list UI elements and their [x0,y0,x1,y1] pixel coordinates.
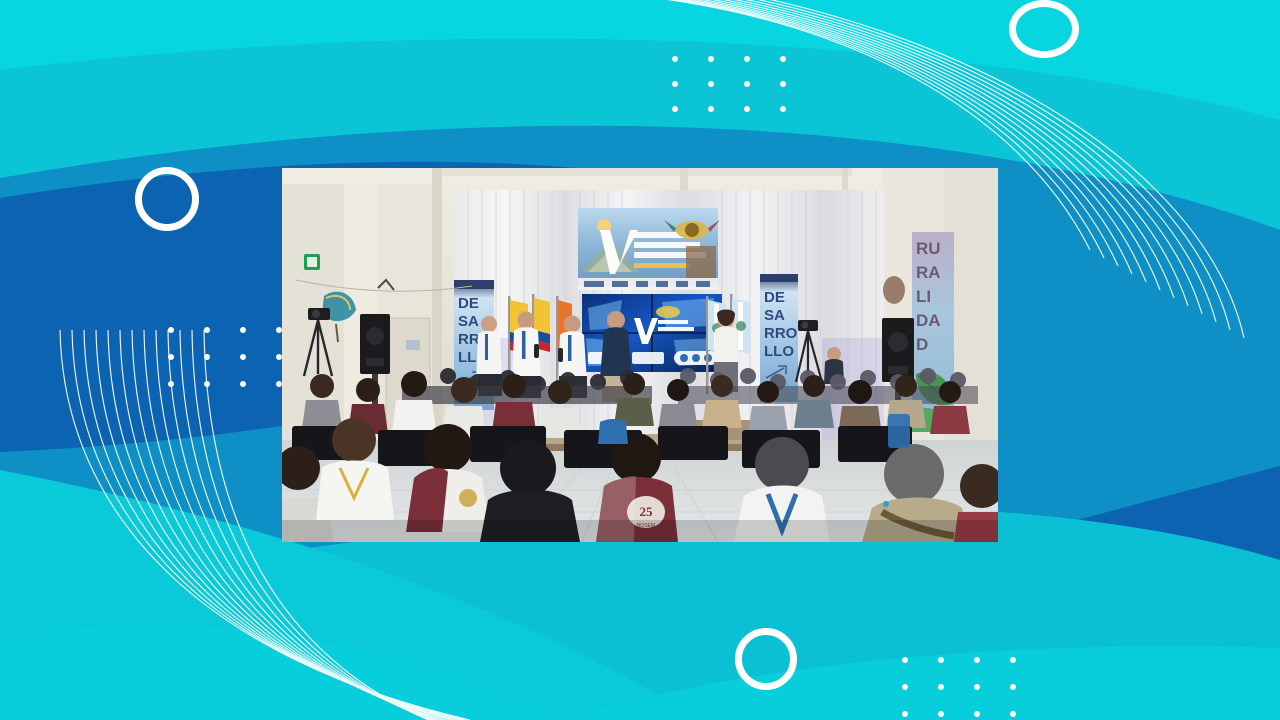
svg-text:D: D [916,335,928,354]
grid-dot [744,56,750,62]
grid-dot [938,657,944,663]
dot-grid-top [672,56,816,131]
grid-dot [204,327,210,333]
svg-text:SA: SA [458,313,479,330]
event-photo: DE SA RRO LLO DE SA RRO LLO [282,168,998,542]
grid-dot [708,81,714,87]
grid-dot [780,81,786,87]
svg-text:DA: DA [916,311,941,330]
grid-dot [240,381,246,387]
grid-dot [672,56,678,62]
svg-text:LLO: LLO [764,343,794,360]
grid-dot [672,106,678,112]
grid-dot [240,354,246,360]
grid-dot [1010,657,1016,663]
grid-dot [168,381,174,387]
grid-dot [974,711,980,717]
grid-dot [204,354,210,360]
svg-text:RU: RU [916,239,941,258]
grid-dot [902,711,908,717]
grid-dot [744,81,750,87]
grid-dot [902,684,908,690]
grid-dot [974,684,980,690]
svg-text:LI: LI [916,287,931,306]
grid-dot [708,56,714,62]
blue-bag [598,419,628,444]
svg-text:DE: DE [764,289,785,306]
grid-dot [168,327,174,333]
stage-banner [578,208,720,290]
grid-dot [938,684,944,690]
grid-dot [780,56,786,62]
decorative-ring-top-right [1009,0,1079,58]
grid-dot [744,106,750,112]
grid-dot [240,327,246,333]
svg-text:SA: SA [764,307,785,324]
grid-dot [204,381,210,387]
grid-dot [1010,711,1016,717]
grid-dot [1010,684,1016,690]
dot-grid-bottom-right [902,657,1046,720]
grid-dot [938,711,944,717]
grid-dot [780,106,786,112]
svg-text:25: 25 [640,504,654,519]
svg-text:RA: RA [916,263,941,282]
wall-portrait [883,276,905,304]
svg-text:DE: DE [458,295,479,312]
grid-dot [672,81,678,87]
grid-dot [708,106,714,112]
grid-dot [902,657,908,663]
photo-scene: DE SA RRO LLO DE SA RRO LLO [282,168,998,542]
slide-canvas: DE SA RRO LLO DE SA RRO LLO [0,0,1280,720]
blue-case [888,414,910,448]
grid-dot [974,657,980,663]
svg-text:RRO: RRO [764,325,798,342]
grid-dot [168,354,174,360]
decorative-ring-bottom [735,628,797,690]
decorative-ring-left [135,167,199,231]
